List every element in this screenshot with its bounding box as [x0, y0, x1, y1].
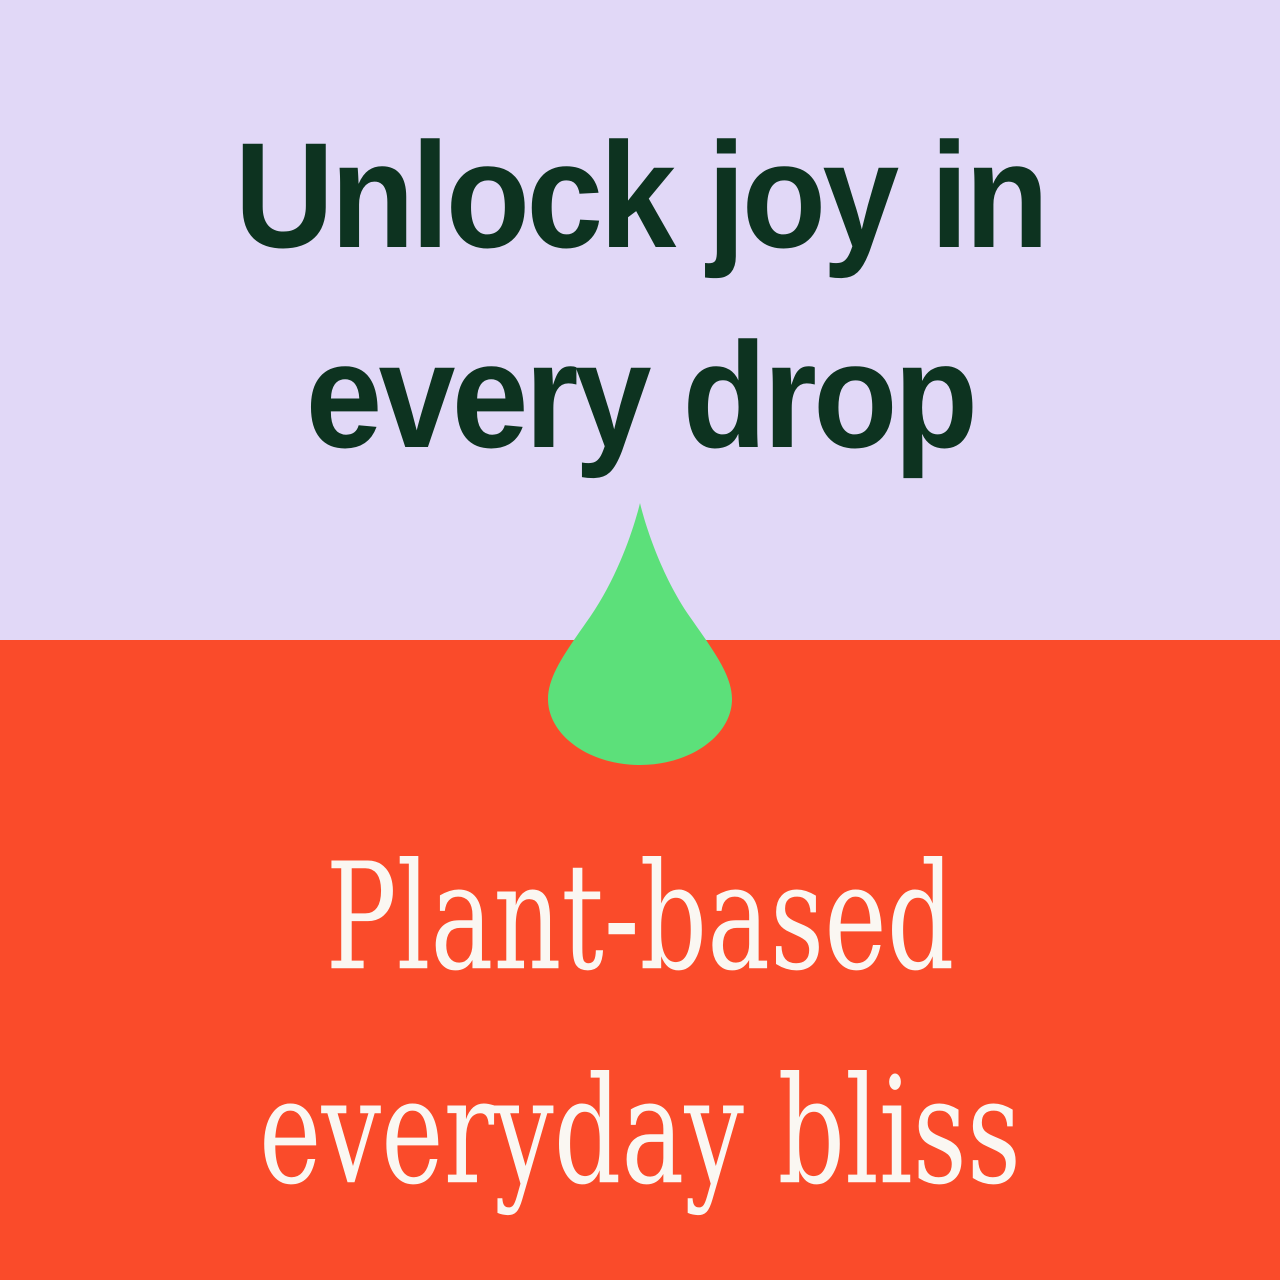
headline-line-1: Unlock joy in	[51, 96, 1229, 296]
poster-canvas: Unlock joy in every drop Plant-based eve…	[0, 0, 1280, 1280]
subline: Plant-based everyday bliss	[0, 812, 1280, 1240]
headline-line-2: every drop	[51, 296, 1229, 496]
headline: Unlock joy in every drop	[0, 96, 1280, 495]
subline-line-1: Plant-based	[128, 799, 1152, 1038]
water-droplet-icon	[548, 503, 732, 765]
subline-line-2: everyday bliss	[128, 1013, 1152, 1252]
